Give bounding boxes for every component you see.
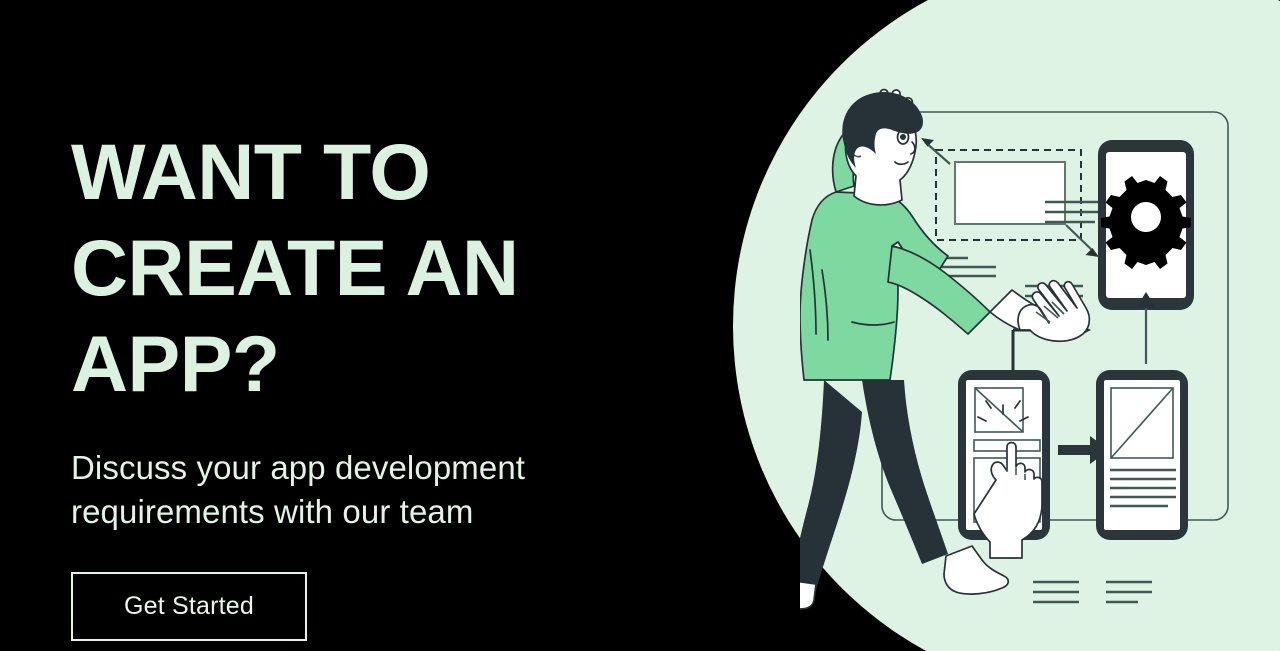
text-lines-phone-result: [1106, 582, 1152, 602]
get-started-button[interactable]: Get Started: [71, 572, 307, 641]
banner-copy: WANT TO CREATE AN APP? Discuss your app …: [71, 124, 711, 641]
phone-wireframe-result: [1096, 370, 1188, 540]
page-title: WANT TO CREATE AN APP?: [71, 124, 711, 412]
text-lines-phone-tap: [1033, 582, 1079, 602]
subheadline: Discuss your app development requirement…: [71, 446, 711, 534]
app-development-illustration: .st { fill:none; stroke:#3f5a55; stroke-…: [800, 80, 1240, 610]
cta-wrapper: Get Started: [71, 572, 711, 641]
promo-banner: .st { fill:none; stroke:#3f5a55; stroke-…: [0, 0, 1280, 651]
dashed-selection-box: [936, 150, 1081, 240]
phone-settings-gear: [1098, 140, 1194, 364]
